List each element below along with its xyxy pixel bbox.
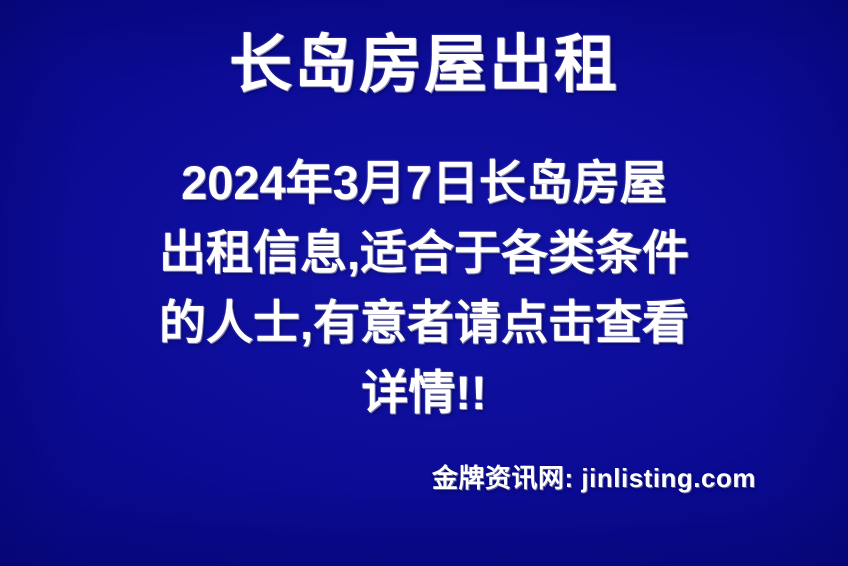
page-title: 长岛房屋出租 <box>0 30 848 101</box>
body-line-4: 详情!! <box>0 358 848 428</box>
poster-content: 长岛房屋出租 2024年3月7日长岛房屋 出租信息,适合于各类条件 的人士,有意… <box>0 0 848 566</box>
body-line-3: 的人士,有意者请点击查看 <box>0 288 848 358</box>
body-line-1: 2024年3月7日长岛房屋 <box>0 148 848 218</box>
body-line-2: 出租信息,适合于各类条件 <box>0 218 848 288</box>
site-attribution: 金牌资讯网: jinlisting.com <box>432 458 756 495</box>
poster-canvas: 长岛房屋出租 2024年3月7日长岛房屋 出租信息,适合于各类条件 的人士,有意… <box>0 0 848 566</box>
poster-body-text: 2024年3月7日长岛房屋 出租信息,适合于各类条件 的人士,有意者请点击查看 … <box>0 148 848 428</box>
